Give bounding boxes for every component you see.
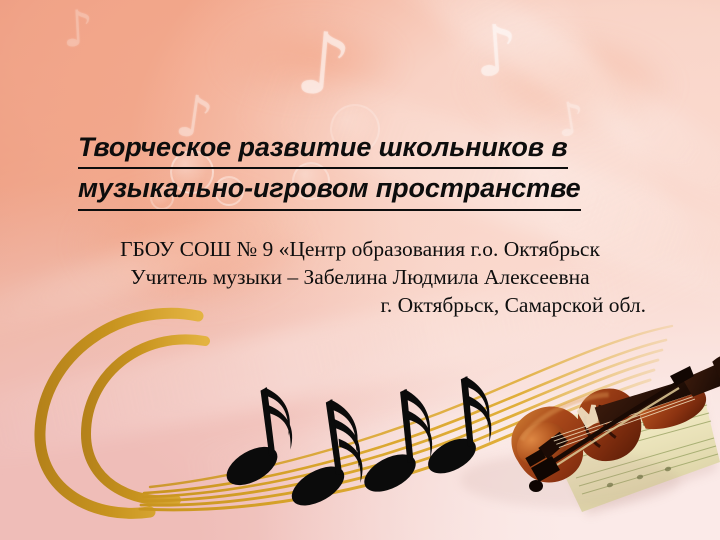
subtitle-line-teacher: Учитель музыки – Забелина Людмила Алексе… — [72, 264, 648, 292]
title-line-1: Творческое развитие школьников в — [78, 128, 568, 169]
subtitle-line-location: г. Октябрьск, Самарской обл. — [72, 292, 648, 320]
title-line-1-row: Творческое развитие школьников в — [78, 128, 638, 169]
presentation-slide: ♪ ♪ ♪ ♪ ♪ — [0, 0, 720, 540]
slide-subtitle: ГБОУ СОШ № 9 «Центр образования г.о. Окт… — [72, 236, 648, 320]
title-line-2: музыкально-игровом пространстве — [78, 169, 581, 210]
eighth-note-icon — [269, 396, 371, 516]
music-notes-group — [206, 373, 500, 515]
slide-title: Творческое развитие школьников в музыкал… — [78, 128, 638, 211]
subtitle-line-school: ГБОУ СОШ № 9 «Центр образования г.о. Окт… — [72, 236, 648, 264]
title-line-2-row: музыкально-игровом пространстве — [78, 169, 638, 210]
